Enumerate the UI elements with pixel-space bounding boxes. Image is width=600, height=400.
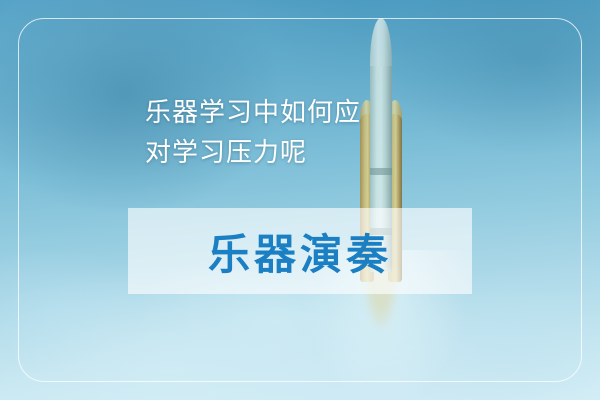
banner-title: 乐器学习中如何应 对学习压力呢 <box>145 92 465 172</box>
category-tag-label: 乐器演奏 <box>208 221 392 282</box>
color-overlay <box>0 0 600 400</box>
category-tag-plate[interactable]: 乐器演奏 <box>128 208 472 294</box>
promo-banner: 乐器学习中如何应 对学习压力呢 乐器演奏 <box>0 0 600 400</box>
